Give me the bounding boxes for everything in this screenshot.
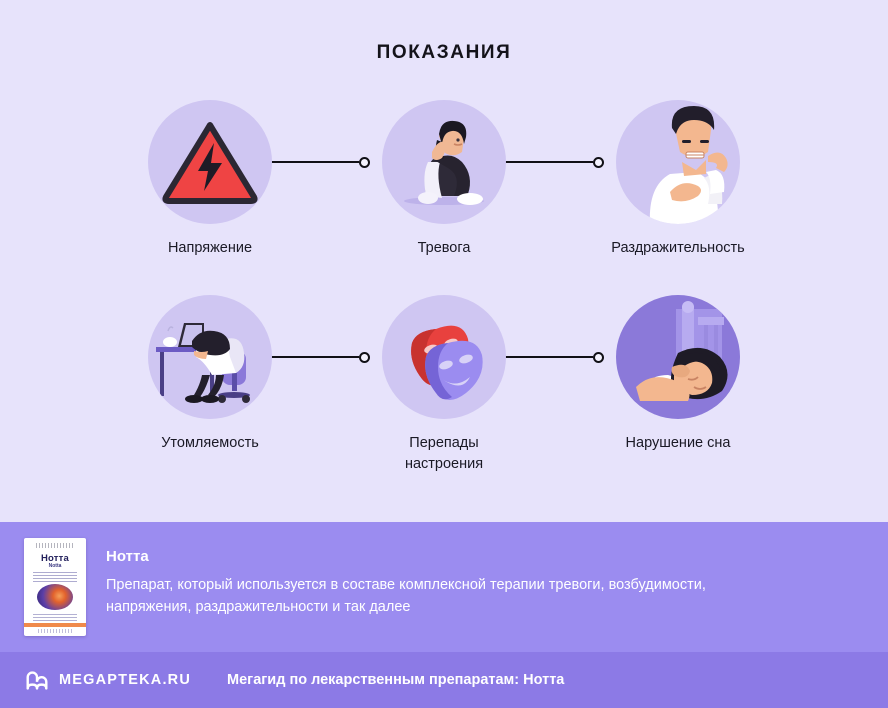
symptom-icon-circle xyxy=(616,295,740,419)
package-orange-stripe xyxy=(24,623,86,627)
symptoms-grid: Напряжение xyxy=(0,100,888,490)
symptom-icon-circle xyxy=(616,100,740,224)
footer-logo-text[interactable]: MEGAPTEKA.RU xyxy=(59,672,191,688)
package-fine-print-2 xyxy=(33,614,77,621)
symptom-label: Перепады настроения xyxy=(326,433,562,475)
symptom-icon-circle xyxy=(382,295,506,419)
symptom-item-tension: Напряжение xyxy=(92,100,328,259)
symptom-label: Тревога xyxy=(326,238,562,259)
warning-triangle-lightning-icon xyxy=(162,119,258,205)
page-title: ПОКАЗАНИЯ xyxy=(0,42,888,64)
footer-tagline: Мегагид по лекарственным препаратам: Нот… xyxy=(227,672,564,688)
symptom-label: Напряжение xyxy=(92,238,328,259)
symptom-icon-circle xyxy=(382,100,506,224)
package-orb-graphic xyxy=(37,584,73,610)
product-package-image: Нотта Notta xyxy=(24,538,86,636)
symptom-item-fatigue: Утомляемость xyxy=(92,295,328,454)
product-title: Нотта xyxy=(106,548,848,565)
symptoms-row-2: Утомляемость xyxy=(0,295,888,490)
product-description: Препарат, который используется в составе… xyxy=(106,575,766,619)
package-barcode xyxy=(36,543,74,548)
anxious-person-sitting-icon xyxy=(382,100,506,224)
symptom-item-anxiety: Тревога xyxy=(326,100,562,259)
symptom-icon-circle xyxy=(148,295,272,419)
sleeping-woman-icon xyxy=(616,295,740,419)
package-sub-label: Notta xyxy=(24,563,86,569)
symptom-label: Утомляемость xyxy=(92,433,328,454)
package-bottom-text xyxy=(38,629,72,633)
package-fine-print xyxy=(33,572,77,582)
symptom-icon-circle xyxy=(148,100,272,224)
symptom-label: Раздражительность xyxy=(560,238,796,259)
tired-woman-at-desk-icon xyxy=(148,295,272,419)
footer-bar: MEGAPTEKA.RU Мегагид по лекарственным пр… xyxy=(0,652,888,708)
symptom-item-mood-swings: Перепады настроения xyxy=(326,295,562,475)
infographic-page: ПОКАЗАНИЯ Напряжение xyxy=(0,0,888,708)
symptom-item-irritability: Раздражительность xyxy=(560,100,796,259)
symptom-label: Нарушение сна xyxy=(560,433,796,454)
megapteka-m-logo-icon xyxy=(24,667,50,693)
symptoms-row-1: Напряжение xyxy=(0,100,888,295)
product-card: Нотта Notta Нотта Препарат, который испо… xyxy=(0,522,888,652)
theatre-masks-icon xyxy=(382,295,506,419)
symptom-item-sleep-disorder: Нарушение сна xyxy=(560,295,796,454)
irritated-man-icon xyxy=(616,100,740,224)
product-card-text: Нотта Препарат, который используется в с… xyxy=(106,548,848,619)
